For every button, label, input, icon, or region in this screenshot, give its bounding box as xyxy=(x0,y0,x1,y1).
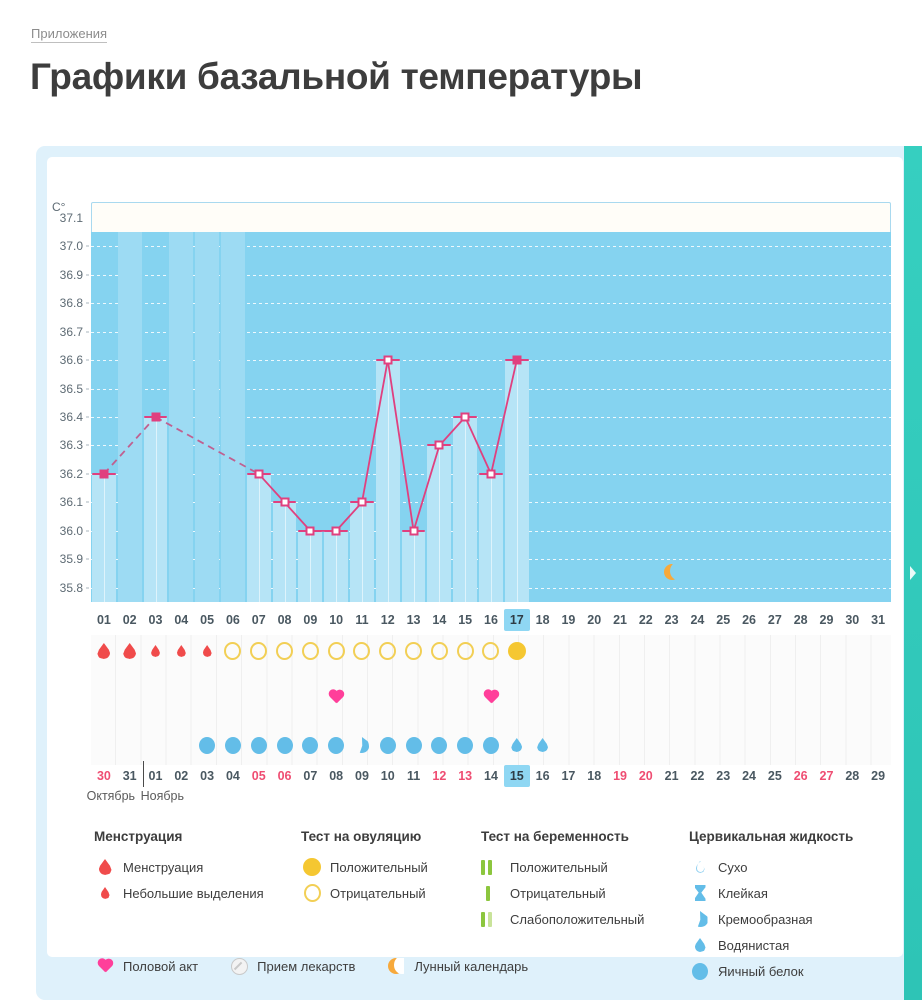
bottom-day-18[interactable]: 18 xyxy=(581,765,607,787)
top-day-03[interactable]: 03 xyxy=(143,609,169,631)
top-day-22[interactable]: 22 xyxy=(633,609,659,631)
top-day-28[interactable]: 28 xyxy=(788,609,814,631)
menstruation-icons[interactable] xyxy=(91,635,891,667)
y-tick-label: 37.0 xyxy=(47,239,83,253)
legend-label: Небольшие выделения xyxy=(123,886,264,901)
open-circle-icon xyxy=(224,642,241,660)
data-point-marker[interactable] xyxy=(357,498,366,507)
top-day-27[interactable]: 27 xyxy=(762,609,788,631)
bottom-day-02[interactable]: 02 xyxy=(168,765,194,787)
top-day-26[interactable]: 26 xyxy=(736,609,762,631)
y-tick-label: 37.1 xyxy=(47,211,83,225)
y-tick-mark xyxy=(86,246,89,247)
bottom-day-21[interactable]: 21 xyxy=(659,765,685,787)
y-tick-label: 36.2 xyxy=(47,467,83,481)
y-tick-label: 36.3 xyxy=(47,438,83,452)
circle-drop-icon xyxy=(199,737,215,754)
temperature-line xyxy=(91,232,891,602)
legend-title: Менструация xyxy=(94,829,294,844)
two-bars-icon xyxy=(481,860,503,875)
bottom-day-22[interactable]: 22 xyxy=(685,765,711,787)
y-tick-label: 36.9 xyxy=(47,268,83,282)
legend-label: Прием лекарств xyxy=(257,959,355,974)
open-circle-icon xyxy=(301,884,323,902)
bottom-day-28[interactable]: 28 xyxy=(839,765,865,787)
top-day-25[interactable]: 25 xyxy=(710,609,736,631)
open-circle-icon xyxy=(482,642,499,660)
open-circle-icon xyxy=(328,642,345,660)
ovulation-test-07[interactable] xyxy=(246,635,272,667)
data-point-marker[interactable] xyxy=(461,413,470,422)
cervical-fluid-12[interactable] xyxy=(401,731,427,759)
open-circle-icon xyxy=(431,642,448,660)
legend-label: Сухо xyxy=(718,860,747,875)
cervical-fluid-13[interactable] xyxy=(426,731,452,759)
circle-drop-icon xyxy=(406,737,422,754)
bbt-chart: C° 37.137.036.936.836.736.636.536.436.33… xyxy=(47,157,903,817)
top-day-09[interactable]: 09 xyxy=(297,609,323,631)
bottom-day-03[interactable]: 03 xyxy=(194,765,220,787)
legend-item-medication[interactable]: Прием лекарств xyxy=(228,953,355,979)
data-point-marker[interactable] xyxy=(512,356,521,365)
top-day-30[interactable]: 30 xyxy=(839,609,865,631)
y-tick-mark xyxy=(86,331,89,332)
bottom-day-04[interactable]: 04 xyxy=(220,765,246,787)
top-day-15[interactable]: 15 xyxy=(452,609,478,631)
ovulation-test-13[interactable] xyxy=(401,635,427,667)
top-day-29[interactable]: 29 xyxy=(814,609,840,631)
open-circle-icon xyxy=(405,642,422,660)
legend-bottom: Половой акт Прием лекарств Лунный календ… xyxy=(94,953,558,979)
crescent-drop-icon xyxy=(689,911,711,927)
legend-item-ovulation-positive[interactable]: Положительный xyxy=(301,854,481,880)
data-point-marker[interactable] xyxy=(332,526,341,535)
bottom-day-27[interactable]: 27 xyxy=(814,765,840,787)
legend-item-menstruation-heavy[interactable]: Менструация xyxy=(94,854,294,880)
top-day-14[interactable]: 14 xyxy=(426,609,452,631)
legend-item-fluid-watery[interactable]: Водянистая xyxy=(689,932,904,958)
page-title: Графики базальной температуры xyxy=(30,56,642,98)
bottom-day-01[interactable]: 01 xyxy=(143,765,169,787)
ovulation-test-15[interactable] xyxy=(452,635,478,667)
legend-group-pregnancy: Тест на беременность Положительный Отриц… xyxy=(481,829,686,932)
blood-drop-heavy-icon xyxy=(94,859,116,875)
legend-item-fluid-dry[interactable]: Сухо xyxy=(689,854,904,880)
legend-label: Половой акт xyxy=(123,959,198,974)
legend-label: Менструация xyxy=(123,860,203,875)
open-circle-icon xyxy=(353,642,370,660)
menstruation-marker-05[interactable] xyxy=(194,635,220,667)
data-point-marker[interactable] xyxy=(383,356,392,365)
legend-title: Тест на беременность xyxy=(481,829,686,844)
cervical-fluid-icons[interactable] xyxy=(91,731,891,759)
y-tick-mark xyxy=(86,473,89,474)
top-day-11[interactable]: 11 xyxy=(349,609,375,631)
legend-label: Клейкая xyxy=(718,886,768,901)
circle-drop-icon xyxy=(380,737,396,754)
top-day-08[interactable]: 08 xyxy=(272,609,298,631)
y-tick-mark xyxy=(86,587,89,588)
cervical-fluid-14[interactable] xyxy=(452,731,478,759)
hourglass-icon xyxy=(689,885,711,901)
pill-icon xyxy=(228,958,250,975)
filled-circle-icon xyxy=(508,642,526,660)
y-tick-label: 36.0 xyxy=(47,524,83,538)
bottom-day-13[interactable]: 13 xyxy=(452,765,478,787)
blood-drop-light-icon xyxy=(151,645,160,657)
top-day-axis[interactable]: 0102030405060708091011121314151617181920… xyxy=(91,609,891,631)
intercourse-marker-16[interactable] xyxy=(478,684,504,710)
cervical-fluid-11[interactable] xyxy=(375,731,401,759)
menstruation-marker-04[interactable] xyxy=(168,635,194,667)
hollow-drop-icon xyxy=(689,861,711,873)
blood-drop-heavy-icon xyxy=(97,643,110,659)
legend-label: Слабоположительный xyxy=(510,912,644,927)
top-day-16[interactable]: 16 xyxy=(478,609,504,631)
circle-drop-icon xyxy=(277,737,293,754)
cervical-fluid-17[interactable] xyxy=(530,731,556,759)
heart-icon xyxy=(328,690,344,705)
intercourse-marker-10[interactable] xyxy=(323,684,349,710)
legend-title: Тест на овуляцию xyxy=(301,829,481,844)
moon-icon xyxy=(385,958,407,974)
legend-group-menstruation: Менструация Менструация Небольшие выделе… xyxy=(94,829,294,906)
top-day-17[interactable]: 17 xyxy=(504,609,530,631)
heart-icon xyxy=(483,690,499,705)
y-tick-label: 36.1 xyxy=(47,495,83,509)
one-bar-icon xyxy=(481,886,503,901)
top-day-31[interactable]: 31 xyxy=(865,609,891,631)
breadcrumb[interactable]: Приложения xyxy=(31,26,107,43)
circle-drop-icon xyxy=(328,737,344,754)
chevron-right-icon xyxy=(908,565,918,581)
circle-drop-icon xyxy=(302,737,318,754)
y-tick-mark xyxy=(86,360,89,361)
top-day-07[interactable]: 07 xyxy=(246,609,272,631)
top-day-24[interactable]: 24 xyxy=(685,609,711,631)
bottom-day-19[interactable]: 19 xyxy=(607,765,633,787)
heart-icon xyxy=(94,959,116,974)
y-tick-label: 36.8 xyxy=(47,296,83,310)
legend-item-fluid-eggwhite[interactable]: Яичный белок xyxy=(689,958,904,984)
open-circle-icon xyxy=(302,642,319,660)
cervical-fluid-5[interactable] xyxy=(220,731,246,759)
circle-drop-icon xyxy=(225,737,241,754)
bottom-day-17[interactable]: 17 xyxy=(556,765,582,787)
ovulation-test-08[interactable] xyxy=(272,635,298,667)
data-point-marker[interactable] xyxy=(306,526,315,535)
legend-label: Яичный белок xyxy=(718,964,804,979)
bottom-day-07[interactable]: 07 xyxy=(297,765,323,787)
open-circle-icon xyxy=(379,642,396,660)
menstruation-marker-02[interactable] xyxy=(117,635,143,667)
legend-item-fluid-creamy[interactable]: Кремообразная xyxy=(689,906,904,932)
open-circle-icon xyxy=(276,642,293,660)
data-point-marker[interactable] xyxy=(280,498,289,507)
circle-drop-icon xyxy=(251,737,267,754)
small-drop-icon xyxy=(511,738,522,752)
two-bars-faint-icon xyxy=(481,912,503,927)
cervical-fluid-6[interactable] xyxy=(246,731,272,759)
ovulation-test-16[interactable] xyxy=(478,635,504,667)
filled-circle-icon xyxy=(301,858,323,876)
bottom-day-24[interactable]: 24 xyxy=(736,765,762,787)
legend-label: Кремообразная xyxy=(718,912,813,927)
y-tick-mark xyxy=(86,530,89,531)
chart-inner-panel: C° 37.137.036.936.836.736.636.536.436.33… xyxy=(47,157,903,957)
bottom-day-08[interactable]: 08 xyxy=(323,765,349,787)
top-day-21[interactable]: 21 xyxy=(607,609,633,631)
legend-item-pregnancy-negative[interactable]: Отрицательный xyxy=(481,880,686,906)
next-panel-button[interactable] xyxy=(904,146,922,1000)
bottom-day-05[interactable]: 05 xyxy=(246,765,272,787)
legend-label: Положительный xyxy=(510,860,608,875)
y-tick-mark xyxy=(86,417,89,418)
legend-label: Положительный xyxy=(330,860,428,875)
month-label-right: Ноябрь xyxy=(141,789,184,803)
legend-group-ovulation: Тест на овуляцию Положительный Отрицател… xyxy=(301,829,481,906)
top-day-20[interactable]: 20 xyxy=(581,609,607,631)
cervical-fluid-15[interactable] xyxy=(478,731,504,759)
bottom-day-30[interactable]: 30 xyxy=(91,765,117,787)
top-day-01[interactable]: 01 xyxy=(91,609,117,631)
y-tick-label: 35.9 xyxy=(47,552,83,566)
circle-drop-icon xyxy=(431,737,447,754)
intercourse-icons[interactable] xyxy=(91,684,891,710)
menstruation-marker-01[interactable] xyxy=(91,635,117,667)
cervical-fluid-16[interactable] xyxy=(504,731,530,759)
circle-drop-icon xyxy=(483,737,499,754)
bottom-day-29[interactable]: 29 xyxy=(865,765,891,787)
legend-item-lunar[interactable]: Лунный календарь xyxy=(385,953,528,979)
bottom-day-31[interactable]: 31 xyxy=(117,765,143,787)
data-point-marker[interactable] xyxy=(487,469,496,478)
bottom-day-09[interactable]: 09 xyxy=(349,765,375,787)
ovulation-test-12[interactable] xyxy=(375,635,401,667)
ovulation-test-09[interactable] xyxy=(297,635,323,667)
bottom-day-16[interactable]: 16 xyxy=(530,765,556,787)
top-day-23[interactable]: 23 xyxy=(659,609,685,631)
y-tick-mark xyxy=(86,303,89,304)
ovulation-test-06[interactable] xyxy=(220,635,246,667)
bottom-day-25[interactable]: 25 xyxy=(762,765,788,787)
ovulation-test-11[interactable] xyxy=(349,635,375,667)
legend-item-pregnancy-positive[interactable]: Положительный xyxy=(481,854,686,880)
legend-group-fluid: Цервикальная жидкость Сухо Клейкая Кремо… xyxy=(689,829,904,984)
top-day-10[interactable]: 10 xyxy=(323,609,349,631)
small-drop-icon xyxy=(689,938,711,952)
top-day-02[interactable]: 02 xyxy=(117,609,143,631)
bottom-day-10[interactable]: 10 xyxy=(375,765,401,787)
legend-title: Цервикальная жидкость xyxy=(689,829,904,844)
data-point-marker[interactable] xyxy=(254,469,263,478)
data-point-marker[interactable] xyxy=(151,413,160,422)
plot-area[interactable] xyxy=(91,232,891,602)
top-day-04[interactable]: 04 xyxy=(168,609,194,631)
legend-item-ovulation-negative[interactable]: Отрицательный xyxy=(301,880,481,906)
ovulation-test-10[interactable] xyxy=(323,635,349,667)
ovulation-test-14[interactable] xyxy=(426,635,452,667)
menstruation-marker-03[interactable] xyxy=(143,635,169,667)
month-label-left: Октябрь xyxy=(87,789,135,803)
blood-drop-light-icon xyxy=(94,887,116,899)
legend-item-menstruation-light[interactable]: Небольшие выделения xyxy=(94,880,294,906)
small-drop-icon xyxy=(537,738,548,752)
bottom-day-14[interactable]: 14 xyxy=(478,765,504,787)
open-circle-icon xyxy=(250,642,267,660)
data-point-marker[interactable] xyxy=(99,469,108,478)
bottom-day-axis[interactable]: 3031010203040506070809101112131415161718… xyxy=(91,765,891,787)
y-tick-mark xyxy=(86,388,89,389)
legend-item-intercourse[interactable]: Половой акт xyxy=(94,953,198,979)
bottom-day-11[interactable]: 11 xyxy=(401,765,427,787)
cervical-fluid-8[interactable] xyxy=(297,731,323,759)
month-divider xyxy=(143,761,144,787)
blood-drop-light-icon xyxy=(203,645,212,657)
legend-label: Отрицательный xyxy=(510,886,606,901)
y-tick-label: 35.8 xyxy=(47,581,83,595)
y-tick-label: 36.7 xyxy=(47,325,83,339)
cervical-fluid-9[interactable] xyxy=(323,731,349,759)
y-tick-mark xyxy=(86,559,89,560)
bottom-day-06[interactable]: 06 xyxy=(272,765,298,787)
bottom-day-23[interactable]: 23 xyxy=(710,765,736,787)
y-tick-mark xyxy=(86,502,89,503)
legend-label: Лунный календарь xyxy=(414,959,528,974)
crescent-drop-icon xyxy=(354,737,369,753)
cervical-fluid-4[interactable] xyxy=(194,731,220,759)
legend-item-fluid-sticky[interactable]: Клейкая xyxy=(689,880,904,906)
data-point-marker[interactable] xyxy=(435,441,444,450)
legend-item-pregnancy-weak[interactable]: Слабоположительный xyxy=(481,906,686,932)
data-point-marker[interactable] xyxy=(409,526,418,535)
cervical-fluid-7[interactable] xyxy=(272,731,298,759)
y-tick-mark xyxy=(86,274,89,275)
y-tick-label: 36.5 xyxy=(47,382,83,396)
top-day-18[interactable]: 18 xyxy=(530,609,556,631)
blood-drop-heavy-icon xyxy=(123,643,136,659)
top-day-05[interactable]: 05 xyxy=(194,609,220,631)
y-tick-label: 36.6 xyxy=(47,353,83,367)
bottom-day-26[interactable]: 26 xyxy=(788,765,814,787)
blood-drop-light-icon xyxy=(177,645,186,657)
y-tick-mark xyxy=(86,445,89,446)
moon-icon[interactable] xyxy=(664,564,680,580)
bottom-day-12[interactable]: 12 xyxy=(426,765,452,787)
legend-label: Отрицательный xyxy=(330,886,426,901)
y-tick-label: 36.4 xyxy=(47,410,83,424)
circle-drop-icon xyxy=(457,737,473,754)
legend-label: Водянистая xyxy=(718,938,789,953)
ovulation-test-17[interactable] xyxy=(504,635,530,667)
top-day-06[interactable]: 06 xyxy=(220,609,246,631)
open-circle-icon xyxy=(457,642,474,660)
circle-drop-icon xyxy=(689,963,711,980)
cervical-fluid-10[interactable] xyxy=(349,731,375,759)
top-day-13[interactable]: 13 xyxy=(401,609,427,631)
bottom-day-15[interactable]: 15 xyxy=(504,765,530,787)
chart-card: C° 37.137.036.936.836.736.636.536.436.33… xyxy=(36,146,922,1000)
top-day-19[interactable]: 19 xyxy=(556,609,582,631)
bottom-day-20[interactable]: 20 xyxy=(633,765,659,787)
top-day-12[interactable]: 12 xyxy=(375,609,401,631)
